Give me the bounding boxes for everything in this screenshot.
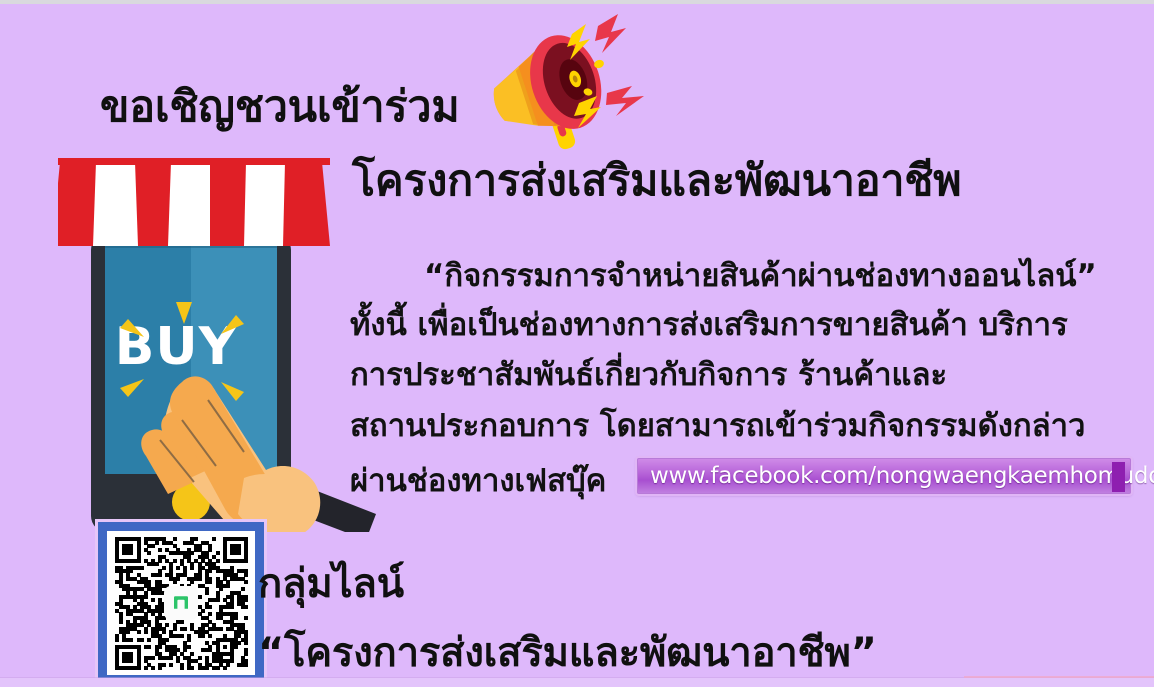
- line-logo-icon: [164, 586, 198, 620]
- text-caret: [1112, 462, 1125, 492]
- megaphone-icon: [466, 8, 666, 158]
- headline-line-2: โครงการส่งเสริมและพัฒนาอาชีพ: [352, 146, 961, 214]
- facebook-url-box[interactable]: www.facebook.com/nongwaengkaemhomudon: [637, 458, 1131, 494]
- qr-blue-border: [98, 522, 264, 684]
- body-line-1: “กิจกรรมการจำหน่ายสินค้าผ่านช่องทางออนไล…: [424, 250, 1097, 300]
- facebook-url-inner: www.facebook.com/nongwaengkaemhomudon: [638, 459, 1130, 493]
- top-edge-strip: [0, 0, 1154, 4]
- line-group-label: กลุ่มไลน์: [258, 551, 404, 615]
- body-line-5: ผ่านช่องทางเฟสบุ๊ค: [350, 455, 606, 505]
- body-line-4: สถานประกอบการ โดยสามารถเข้าร่วมกิจกรรมดั…: [350, 400, 1085, 450]
- line-qr-code-frame[interactable]: [95, 519, 267, 687]
- line-group-title: “โครงการส่งเสริมและพัฒนาอาชีพ”: [258, 620, 877, 684]
- body-line-2: ทั้งนี้ เพื่อเป็นช่องทางการส่งเสริมการขา…: [350, 299, 1068, 349]
- body-line-3: การประชาสัมพันธ์เกี่ยวกับกิจการ ร้านค้าแ…: [350, 349, 947, 399]
- bottom-edge-strip: [0, 678, 1154, 687]
- headline-line-1: ขอเชิญชวนเข้าร่วม: [100, 72, 460, 140]
- poster-canvas: BUY: [0, 0, 1154, 687]
- online-shop-phone-icon: BUY: [58, 152, 388, 532]
- facebook-url-text: www.facebook.com/nongwaengkaemhomudon: [650, 463, 1154, 489]
- qr-code-area: [107, 531, 255, 675]
